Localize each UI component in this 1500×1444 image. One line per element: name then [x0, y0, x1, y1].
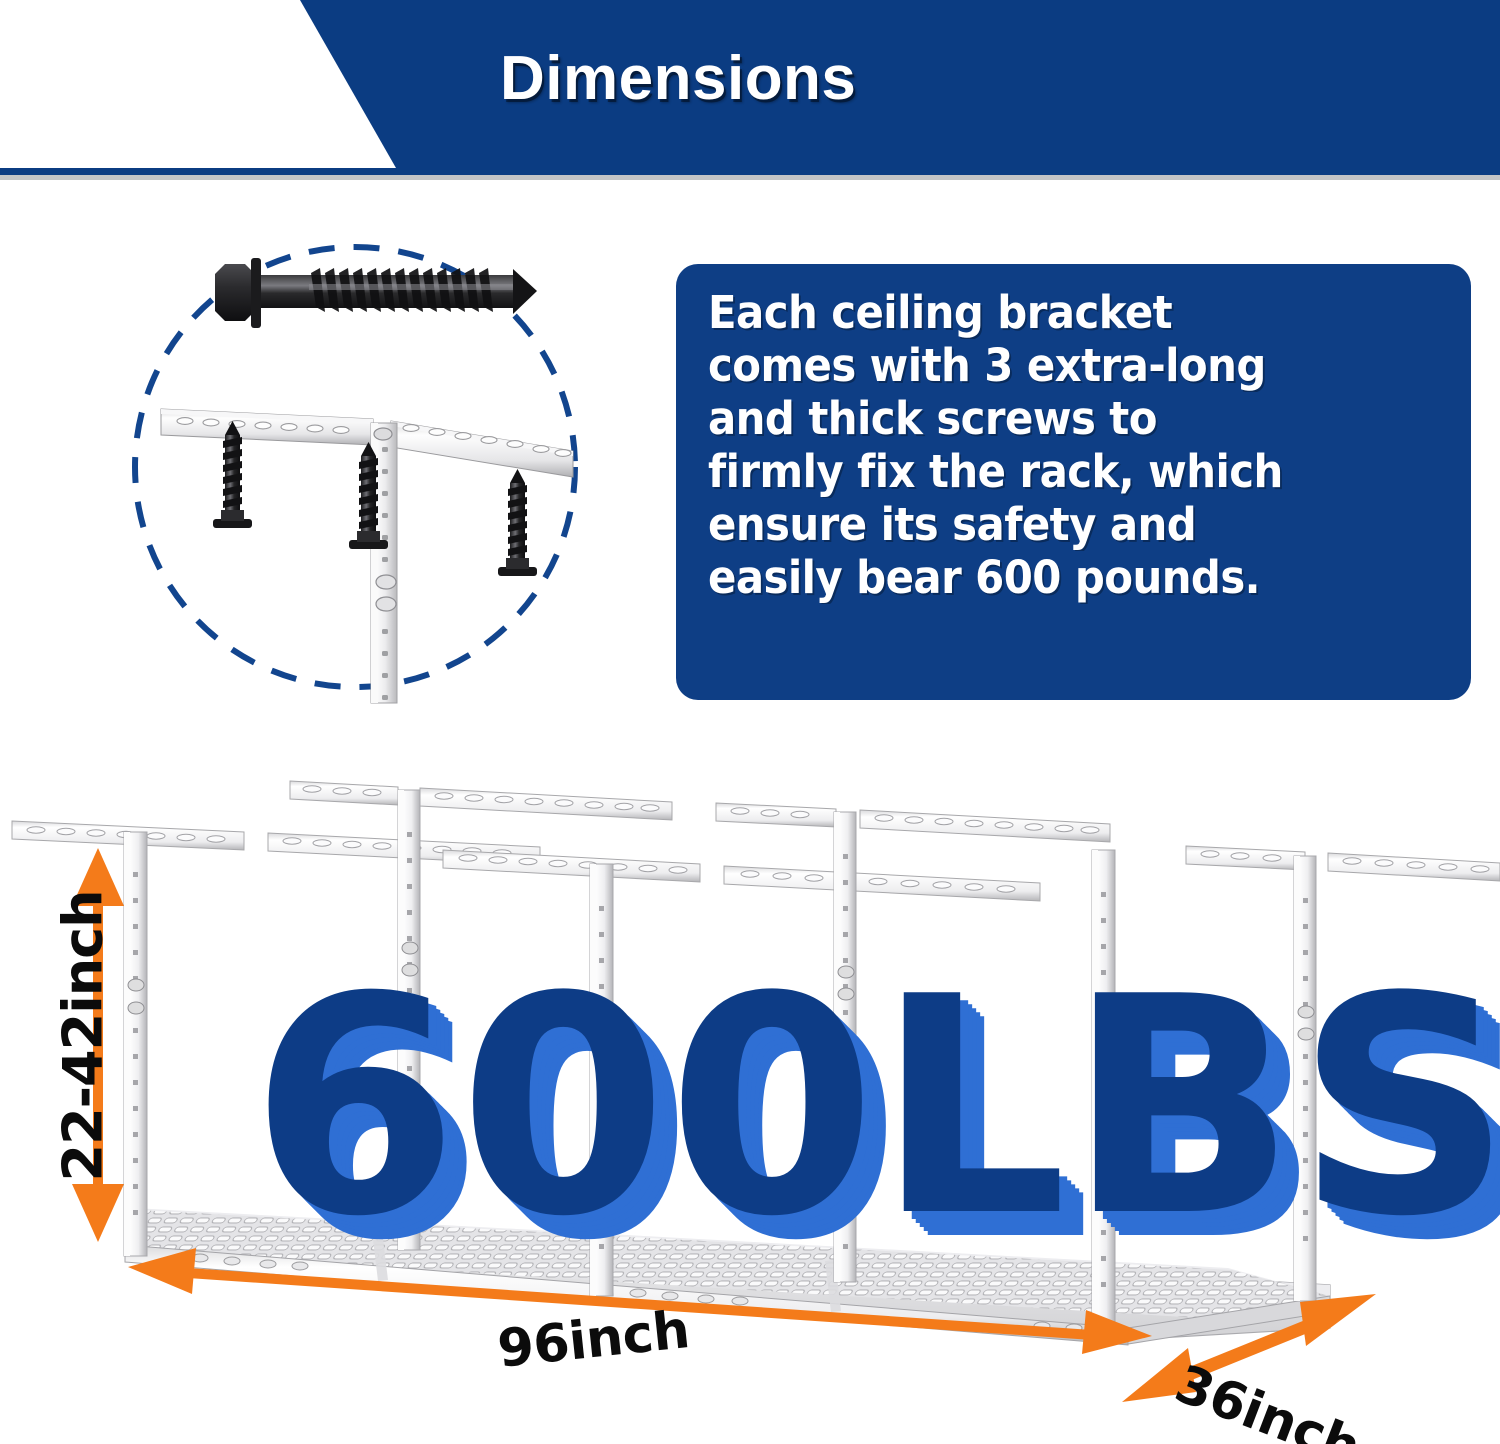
rack-post-front-right — [1092, 850, 1115, 1340]
info-callout-box: Each ceiling bracket comes with 3 extra-… — [676, 264, 1471, 700]
large-lag-screw-icon — [215, 258, 537, 328]
dashed-circle — [135, 247, 575, 687]
rack-post-back-right — [834, 812, 856, 1282]
info-line-5: ensure its safety and — [708, 498, 1390, 551]
rack-svg — [0, 740, 1500, 1444]
header-rule-gray — [0, 175, 1500, 180]
mounting-screw-right-icon — [498, 469, 537, 576]
page-title: Dimensions — [500, 48, 1200, 110]
infographic-page: Dimensions — [0, 0, 1500, 1444]
ceiling-rail-2 — [290, 781, 672, 820]
header-rule-blue — [0, 168, 1500, 175]
info-line-2: comes with 3 extra-long — [708, 339, 1390, 392]
info-line-6: easily bear 600 pounds. — [708, 551, 1390, 604]
rack-deck — [100, 1170, 1360, 1350]
info-line-3: and thick screws to — [708, 392, 1390, 445]
rack-post-front-center — [590, 864, 613, 1296]
height-dimension-label: 22-42inch — [52, 892, 115, 1182]
ceiling-rail-4 — [716, 803, 1110, 842]
ceiling-rail-5 — [1186, 846, 1500, 881]
info-line-1: Each ceiling bracket — [708, 286, 1390, 339]
rack-post-back-left — [398, 790, 420, 1250]
rack-illustration — [0, 740, 1500, 1444]
header-band: Dimensions — [0, 0, 1500, 168]
screw-detail-callout — [133, 231, 578, 703]
rack-post-far-right — [1294, 856, 1316, 1301]
header-white-wedge — [0, 0, 420, 168]
callout-illustration — [133, 231, 578, 703]
info-line-4: firmly fix the rack, which — [708, 445, 1390, 498]
rack-post-front-left — [124, 832, 147, 1256]
ceiling-rail-3 — [443, 850, 1040, 901]
